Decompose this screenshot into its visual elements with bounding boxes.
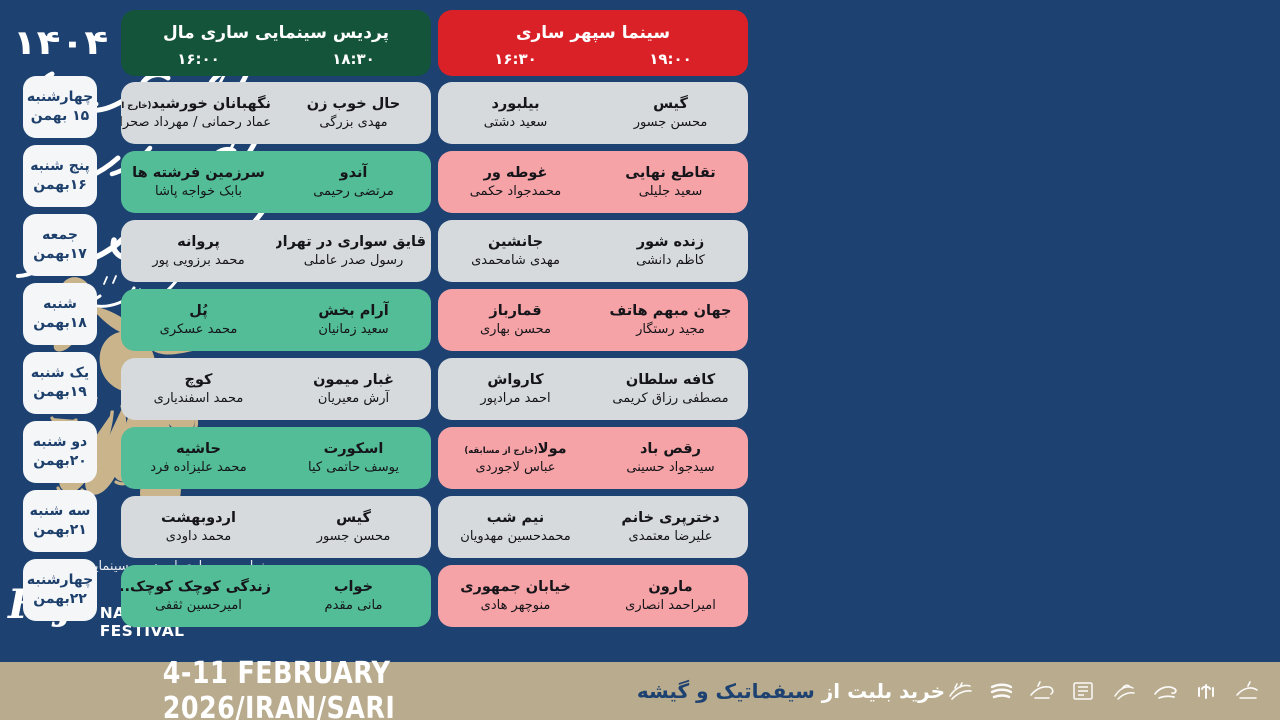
date-dayofweek: دو شنبه (33, 433, 87, 452)
schedule-row[interactable]: آرام بخش سعید زمانیان پُل محمد عسکری (121, 289, 431, 351)
date-dayofweek: چهارشنبه (27, 88, 93, 107)
film-director: مهدی بزرگی (281, 114, 426, 132)
year-mark: ۱۴۰۴ (12, 10, 107, 76)
date-dayofweek: چهارشنبه (27, 571, 93, 590)
film-slot[interactable]: قایق سواری در تهران رسول صدر عاملی (276, 232, 431, 270)
film-title: زنده شور (598, 232, 743, 252)
sponsor-logo-5 (1109, 676, 1139, 706)
film-slot[interactable]: خواب مانی مقدم (276, 577, 431, 615)
sponsor-logo-8 (1232, 676, 1262, 706)
date-daynumber: ۲۱بهمن (33, 521, 87, 540)
date-daynumber: ۱۷بهمن (33, 245, 87, 264)
sponsor-logo-4 (1068, 676, 1098, 706)
cinema-column-sepehr-sari: سینما سپهر ساری ۱۹:۰۰ ۱۶:۳۰ گیس محسن جسو… (438, 10, 748, 634)
sponsor-logo-3 (1027, 676, 1057, 706)
film-title: نگهبانان خورشید(خارج از مسابقه) (126, 94, 271, 114)
film-title: رقص باد (598, 439, 743, 459)
film-director: یوسف حاتمی کیا (281, 459, 426, 477)
film-title: کوچ (126, 370, 271, 390)
sponsor-logo-2 (986, 676, 1016, 706)
date-cell[interactable]: چهارشنبه ۲۲بهمن (23, 559, 97, 621)
film-director: محمدحسین مهدویان (443, 528, 588, 546)
film-title: اسکورت (281, 439, 426, 459)
film-director: مصطفی رزاق کریمی (598, 390, 743, 408)
film-slot[interactable]: اردوبهشت محمد داودی (121, 508, 276, 546)
film-director: آرش معیریان (281, 390, 426, 408)
film-director: بابک خواجه پاشا (126, 183, 271, 201)
schedule-row[interactable]: غبار میمون آرش معیریان کوچ محمد اسفندیار… (121, 358, 431, 420)
film-slot[interactable]: کافه سلطان مصطفی رزاق کریمی (593, 370, 748, 408)
film-director: محمد علیزاده فرد (126, 459, 271, 477)
showtime-slot-2: ۱۸:۳۰ (276, 50, 431, 68)
film-tag: (خارج از مسابقه) (121, 101, 151, 111)
film-slot[interactable]: جهان مبهم هاتف مجید رستگار (593, 301, 748, 339)
film-slot[interactable]: پروانه محمد برزویی پور (121, 232, 276, 270)
film-slot[interactable]: مولا(خارج از مسابقه) عباس لاجوردی (438, 439, 593, 477)
film-title: جهان مبهم هاتف (598, 301, 743, 321)
film-director: رسول صدر عاملی (281, 252, 426, 270)
film-director: سیدجواد حسینی (598, 459, 743, 477)
date-dayofweek: جمعه (42, 226, 78, 245)
film-slot[interactable]: غبار میمون آرش معیریان (276, 370, 431, 408)
sponsor-logo-7 (1191, 676, 1221, 706)
schedule-row[interactable]: اسکورت یوسف حاتمی کیا حاشیه محمد علیزاده… (121, 427, 431, 489)
date-cell[interactable]: پنج شنبه ۱۶بهمن (23, 145, 97, 207)
schedule-row[interactable]: قایق سواری در تهران رسول صدر عاملی پروان… (121, 220, 431, 282)
film-slot[interactable]: بیلبورد سعید دشتی (438, 94, 593, 132)
film-slot[interactable]: رقص باد سیدجواد حسینی (593, 439, 748, 477)
film-title: کارواش (443, 370, 588, 390)
showtime-slot-1: ۱۶:۳۰ (438, 50, 593, 68)
sponsor-logo-1 (945, 676, 975, 706)
film-slot[interactable]: اسکورت یوسف حاتمی کیا (276, 439, 431, 477)
film-title: دخترپری خانم (598, 508, 743, 528)
date-daynumber: ۲۲بهمن (33, 590, 87, 609)
film-slot[interactable]: نیم شب محمدحسین مهدویان (438, 508, 593, 546)
film-director: مرتضی رحیمی (281, 183, 426, 201)
film-title: پروانه (126, 232, 271, 252)
film-slot[interactable]: جانشین مهدی شامحمدی (438, 232, 593, 270)
date-daynumber: ۱۶بهمن (33, 176, 87, 195)
film-title: مارون (598, 577, 743, 597)
film-director: سعید دشتی (443, 114, 588, 132)
film-title: جانشین (443, 232, 588, 252)
date-dayofweek: یک شنبه (31, 364, 89, 383)
film-director: محسن بهاری (443, 321, 588, 339)
schedule-grid: ۱۴۰۴ چهارشنبه ۱۵ بهمن پنج شنبه ۱۶بهمن جم… (0, 10, 1280, 650)
schedule-row[interactable]: جهان مبهم هاتف مجید رستگار قمارباز محسن … (438, 289, 748, 351)
cinema-header: پردیس سینمایی ساری مال ۱۸:۳۰ ۱۶:۰۰ (121, 10, 431, 76)
film-slot[interactable]: دخترپری خانم علیرضا معتمدی (593, 508, 748, 546)
date-cell[interactable]: دو شنبه ۲۰بهمن (23, 421, 97, 483)
english-date-line: 4-11 FEBRUARY 2026/IRAN/SARI (163, 656, 564, 720)
film-director: محمد عسکری (126, 321, 271, 339)
film-director: محسن جسور (281, 528, 426, 546)
film-director: عباس لاجوردی (443, 459, 588, 477)
cinema-name: پردیس سینمایی ساری مال (163, 23, 389, 43)
film-director: کاظم دانشی (598, 252, 743, 270)
schedule-row[interactable]: زنده شور کاظم دانشی جانشین مهدی شامحمدی (438, 220, 748, 282)
film-slot[interactable]: آندو مرتضی رحیمی (276, 163, 431, 201)
film-director: محمد اسفندیاری (126, 390, 271, 408)
schedule-row[interactable]: تقاطع نهایی سعید جلیلی غوطه ور محمدجواد … (438, 151, 748, 213)
film-director: سعید زمانیان (281, 321, 426, 339)
film-director: محمد برزویی پور (126, 252, 271, 270)
film-slot[interactable]: پُل محمد عسکری (121, 301, 276, 339)
film-title: گیس (281, 508, 426, 528)
date-cell[interactable]: یک شنبه ۱۹بهمن (23, 352, 97, 414)
film-slot[interactable]: نگهبانان خورشید(خارج از مسابقه) عماد رحم… (121, 94, 276, 132)
film-director: محمدجواد حکمی (443, 183, 588, 201)
cinema-column-sari-mall: پردیس سینمایی ساری مال ۱۸:۳۰ ۱۶:۰۰ حال خ… (121, 10, 431, 634)
ticket-prefix: خرید بلیت از (815, 679, 945, 703)
film-director: مهدی شامحمدی (443, 252, 588, 270)
sponsor-logo-row (945, 676, 1262, 706)
date-column: ۱۴۰۴ چهارشنبه ۱۵ بهمن پنج شنبه ۱۶بهمن جم… (10, 10, 110, 628)
film-title: مولا(خارج از مسابقه) (443, 439, 588, 459)
film-director: سعید جلیلی (598, 183, 743, 201)
film-slot[interactable]: حال خوب زن مهدی بزرگی (276, 94, 431, 132)
date-daynumber: ۱۸بهمن (33, 314, 87, 333)
film-slot[interactable]: سرزمین فرشته ها بابک خواجه پاشا (121, 163, 276, 201)
date-cell[interactable]: جمعه ۱۷بهمن (23, 214, 97, 276)
film-title: بیلبورد (443, 94, 588, 114)
film-slot[interactable]: گیس محسن جسور (593, 94, 748, 132)
date-daynumber: ۲۰بهمن (33, 452, 87, 471)
film-title: قایق سواری در تهران (281, 232, 426, 252)
film-slot[interactable]: گیس محسن جسور (276, 508, 431, 546)
date-cell[interactable]: چهارشنبه ۱۵ بهمن (23, 76, 97, 138)
film-title: نیم شب (443, 508, 588, 528)
cinema-header: سینما سپهر ساری ۱۹:۰۰ ۱۶:۳۰ (438, 10, 748, 76)
film-director: محمد داودی (126, 528, 271, 546)
ticket-brand: سیفماتیک و گیشه (637, 679, 815, 703)
film-director: عماد رحمانی / مهرداد صحرایی (126, 114, 271, 132)
film-director: امیرحسین ثقفی (126, 597, 271, 615)
date-cell[interactable]: سه شنبه ۲۱بهمن (23, 490, 97, 552)
cinema-name: سینما سپهر ساری (516, 23, 670, 43)
cinema-showtimes: ۱۹:۰۰ ۱۶:۳۰ (438, 50, 748, 68)
schedule-row[interactable]: گیس محسن جسور بیلبورد سعید دشتی (438, 82, 748, 144)
film-tag: (خارج از مسابقه) (464, 446, 537, 456)
film-title: خواب (281, 577, 426, 597)
film-title: حال خوب زن (281, 94, 426, 114)
schedule-row[interactable]: خواب مانی مقدم زندگی کوچک کوچک... امیرحس… (121, 565, 431, 627)
schedule-row[interactable]: گیس محسن جسور اردوبهشت محمد داودی (121, 496, 431, 558)
film-director: محسن جسور (598, 114, 743, 132)
film-slot[interactable]: آرام بخش سعید زمانیان (276, 301, 431, 339)
date-dayofweek: شنبه (43, 295, 77, 314)
date-daynumber: ۱۹بهمن (33, 383, 87, 402)
film-title: خیابان جمهوری (443, 577, 588, 597)
film-slot[interactable]: زنده شور کاظم دانشی (593, 232, 748, 270)
film-title: گیس (598, 94, 743, 114)
film-title: غبار میمون (281, 370, 426, 390)
film-title: زندگی کوچک کوچک... (126, 577, 271, 597)
showtime-slot-1: ۱۶:۰۰ (121, 50, 276, 68)
showtime-slot-2: ۱۹:۰۰ (593, 50, 748, 68)
date-daynumber: ۱۵ بهمن (31, 107, 89, 126)
film-title: غوطه ور (443, 163, 588, 183)
bottom-bar: 4-11 FEBRUARY 2026/IRAN/SARI خرید بلیت ا… (0, 662, 1280, 720)
cinema-showtimes: ۱۸:۳۰ ۱۶:۰۰ (121, 50, 431, 68)
date-cell[interactable]: شنبه ۱۸بهمن (23, 283, 97, 345)
schedule-row[interactable]: رقص باد سیدجواد حسینی مولا(خارج از مسابق… (438, 427, 748, 489)
film-title: آندو (281, 163, 426, 183)
schedule-row[interactable]: مارون امیراحمد انصاری خیابان جمهوری منوچ… (438, 565, 748, 627)
schedule-row[interactable]: حال خوب زن مهدی بزرگی نگهبانان خورشید(خا… (121, 82, 431, 144)
film-title: پُل (126, 301, 271, 321)
film-director: علیرضا معتمدی (598, 528, 743, 546)
film-slot[interactable]: خیابان جمهوری منوچهر هادی (438, 577, 593, 615)
film-slot[interactable]: مارون امیراحمد انصاری (593, 577, 748, 615)
date-dayofweek: سه شنبه (30, 502, 91, 521)
film-title: تقاطع نهایی (598, 163, 743, 183)
schedule-row[interactable]: کافه سلطان مصطفی رزاق کریمی کارواش احمد … (438, 358, 748, 420)
film-director: مانی مقدم (281, 597, 426, 615)
film-slot[interactable]: قمارباز محسن بهاری (438, 301, 593, 339)
date-dayofweek: پنج شنبه (30, 157, 90, 176)
film-title: سرزمین فرشته ها (126, 163, 271, 183)
film-director: منوچهر هادی (443, 597, 588, 615)
film-slot[interactable]: کوچ محمد اسفندیاری (121, 370, 276, 408)
film-director: امیراحمد انصاری (598, 597, 743, 615)
film-slot[interactable]: کارواش احمد مرادپور (438, 370, 593, 408)
film-slot[interactable]: غوطه ور محمدجواد حکمی (438, 163, 593, 201)
film-title: کافه سلطان (598, 370, 743, 390)
festival-schedule-poster: ۱۵-۲۲ بهمـن ۱۴۰۴ سینما سپهر ساری | پردیس… (0, 0, 1280, 720)
film-title: حاشیه (126, 439, 271, 459)
film-slot[interactable]: زندگی کوچک کوچک... امیرحسین ثقفی (121, 577, 276, 615)
film-slot[interactable]: حاشیه محمد علیزاده فرد (121, 439, 276, 477)
sponsor-logo-6 (1150, 676, 1180, 706)
film-director: مجید رستگار (598, 321, 743, 339)
schedule-row[interactable]: آندو مرتضی رحیمی سرزمین فرشته ها بابک خو… (121, 151, 431, 213)
film-title: اردوبهشت (126, 508, 271, 528)
film-slot[interactable]: تقاطع نهایی سعید جلیلی (593, 163, 748, 201)
schedule-row[interactable]: دخترپری خانم علیرضا معتمدی نیم شب محمدحس… (438, 496, 748, 558)
film-director: احمد مرادپور (443, 390, 588, 408)
film-title: قمارباز (443, 301, 588, 321)
ticket-purchase-line[interactable]: خرید بلیت از سیفماتیک و گیشه (637, 679, 945, 703)
film-title: آرام بخش (281, 301, 426, 321)
